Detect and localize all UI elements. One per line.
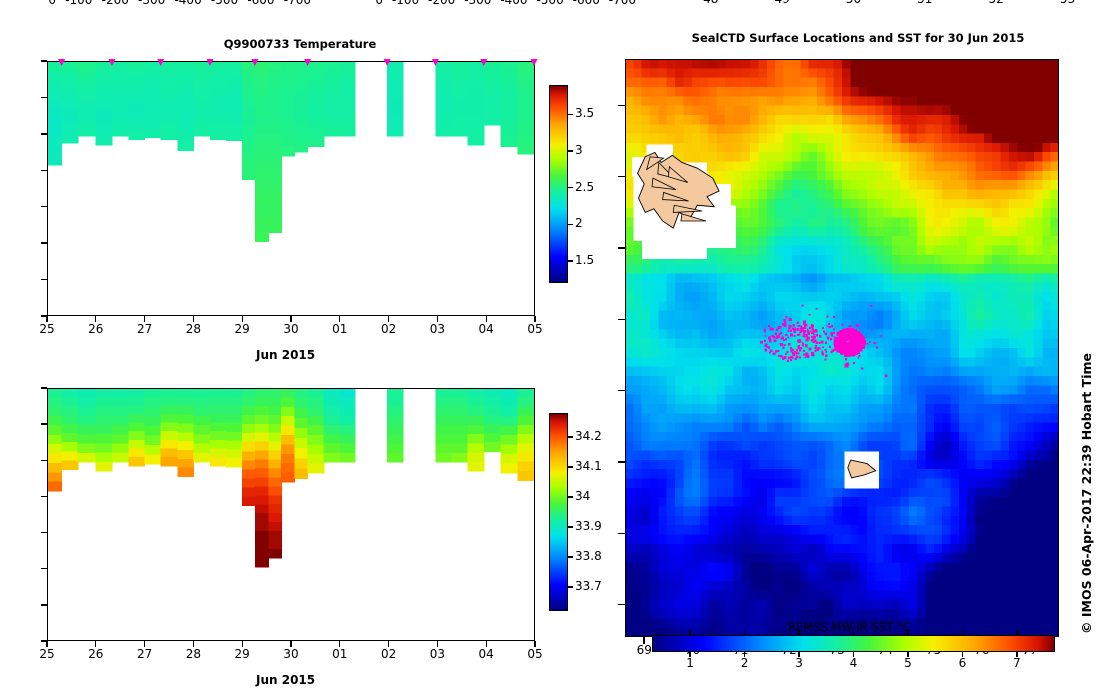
ytick bbox=[41, 242, 47, 243]
xtick-label: 03 bbox=[417, 647, 457, 661]
xtick-label: 29 bbox=[222, 322, 262, 336]
ytick-label: -200 bbox=[89, 0, 129, 7]
xtick-label: 05 bbox=[515, 647, 555, 661]
xtick-label: 02 bbox=[369, 322, 409, 336]
ytick-label: -200 bbox=[415, 0, 455, 7]
ytick bbox=[41, 640, 47, 641]
ytick-label: -700 bbox=[271, 0, 311, 7]
ytick-label: -600 bbox=[560, 0, 600, 7]
xtick-label: 03 bbox=[417, 322, 457, 336]
lat-tick-label: -51 bbox=[892, 0, 932, 6]
xtick-label: 05 bbox=[515, 322, 555, 336]
lat-tick-label: -50 bbox=[821, 0, 861, 6]
xtick-label: 27 bbox=[125, 647, 165, 661]
sal-colorbar-tick bbox=[568, 586, 573, 587]
sal-colorbar-label: 33.9 bbox=[575, 519, 602, 533]
xtick-label: 30 bbox=[271, 647, 311, 661]
sst-colorbar-tick bbox=[962, 630, 963, 635]
sst-colorbar-label: 2 bbox=[725, 656, 765, 670]
lat-tick bbox=[618, 461, 625, 462]
sst-colorbar-label: 1 bbox=[670, 656, 710, 670]
sal-colorbar-tick bbox=[568, 436, 573, 437]
xtick-label: 04 bbox=[466, 647, 506, 661]
xtick-label: 30 bbox=[271, 322, 311, 336]
lat-tick bbox=[618, 390, 625, 391]
ytick bbox=[41, 97, 47, 98]
xtick-label: 27 bbox=[125, 322, 165, 336]
sst-map-panel bbox=[625, 59, 1059, 637]
xtick-label: 02 bbox=[369, 647, 409, 661]
salinity-heatmap bbox=[47, 388, 535, 641]
ytick-label: -100 bbox=[379, 0, 419, 7]
xtick-label: 29 bbox=[222, 647, 262, 661]
sst-colorbar-tick bbox=[853, 630, 854, 635]
xtick-label: 01 bbox=[320, 322, 360, 336]
sal-colorbar-label: 34.1 bbox=[575, 459, 602, 473]
sal-colorbar-tick bbox=[568, 556, 573, 557]
sst-colorbar-tick bbox=[907, 630, 908, 635]
temperature-heatmap bbox=[47, 61, 535, 316]
xtick-label: 04 bbox=[466, 322, 506, 336]
temp-colorbar-tick bbox=[568, 114, 573, 115]
ytick-label: 0 bbox=[16, 0, 56, 7]
sal-colorbar-tick bbox=[568, 496, 573, 497]
sst-colorbar-label: 7 bbox=[997, 656, 1037, 670]
lat-tick bbox=[618, 319, 625, 320]
sst-colorbar-tick bbox=[798, 630, 799, 635]
ytick bbox=[41, 206, 47, 207]
temp-colorbar-tick bbox=[568, 187, 573, 188]
temp-colorbar-tick bbox=[568, 150, 573, 151]
sst-colorbar-tick bbox=[744, 630, 745, 635]
ytick-label: -100 bbox=[52, 0, 92, 7]
ytick bbox=[41, 387, 47, 388]
lat-tick bbox=[618, 604, 625, 605]
sst-colorbar-tick bbox=[689, 630, 690, 635]
lat-tick-label: -49 bbox=[750, 0, 790, 6]
xtick-label: 25 bbox=[27, 647, 67, 661]
sst-colorbar-tick bbox=[1016, 630, 1017, 635]
temp-colorbar-tick bbox=[568, 260, 573, 261]
temp-colorbar-label: 3 bbox=[575, 143, 583, 157]
ytick-label: -400 bbox=[488, 0, 528, 7]
sal-colorbar-label: 34.2 bbox=[575, 429, 602, 443]
xtick-label: 26 bbox=[76, 322, 116, 336]
ytick bbox=[41, 423, 47, 424]
salinity-xaxis-label: Jun 2015 bbox=[256, 673, 315, 687]
ytick-label: -600 bbox=[235, 0, 275, 7]
lat-tick bbox=[618, 176, 625, 177]
xtick-label: 01 bbox=[320, 647, 360, 661]
ytick bbox=[41, 170, 47, 171]
ytick-label: 0 bbox=[343, 0, 383, 7]
lat-tick-label: -53 bbox=[1035, 0, 1075, 6]
lat-tick bbox=[618, 247, 625, 248]
ytick-label: -700 bbox=[596, 0, 636, 7]
salinity-plot-panel bbox=[47, 388, 535, 641]
ytick bbox=[41, 496, 47, 497]
sst-colorbar-caption: REMSS MW-IR SST °C bbox=[788, 620, 911, 634]
sst-colorbar-label: 4 bbox=[834, 656, 874, 670]
ytick bbox=[41, 315, 47, 316]
xtick-label: 25 bbox=[27, 322, 67, 336]
sst-colorbar-label: 3 bbox=[779, 656, 819, 670]
ytick bbox=[41, 532, 47, 533]
temp-colorbar-tick bbox=[568, 224, 573, 225]
ytick-label: -300 bbox=[451, 0, 491, 7]
lat-tick-label: -52 bbox=[964, 0, 1004, 6]
imos-credit: © IMOS 06-Apr-2017 22:39 Hobart Time bbox=[1079, 353, 1094, 634]
map-panel-title: SealCTD Surface Locations and SST for 30… bbox=[643, 31, 1073, 45]
lat-tick bbox=[618, 105, 625, 106]
xtick-label: 28 bbox=[173, 647, 213, 661]
temp-colorbar-label: 2.5 bbox=[575, 180, 594, 194]
temperature-surface-markers bbox=[47, 53, 539, 69]
ytick-label: -500 bbox=[524, 0, 564, 7]
salinity-colorbar bbox=[549, 413, 568, 611]
ytick bbox=[41, 133, 47, 134]
ytick bbox=[41, 568, 47, 569]
temperature-colorbar bbox=[549, 85, 568, 283]
sal-colorbar-tick bbox=[568, 526, 573, 527]
temp-colorbar-label: 2 bbox=[575, 216, 583, 230]
sst-colorbar-label: 6 bbox=[942, 656, 982, 670]
ytick-label: -400 bbox=[162, 0, 202, 7]
ytick bbox=[41, 604, 47, 605]
sal-colorbar-label: 33.7 bbox=[575, 579, 602, 593]
lat-tick-label: -48 bbox=[678, 0, 718, 6]
ytick-label: -500 bbox=[198, 0, 238, 7]
sst-colorbar-label: 5 bbox=[888, 656, 928, 670]
ytick bbox=[41, 279, 47, 280]
xtick-label: 28 bbox=[173, 322, 213, 336]
temperature-xaxis-label: Jun 2015 bbox=[256, 348, 315, 362]
ytick-label: -300 bbox=[125, 0, 165, 7]
xtick-label: 26 bbox=[76, 647, 116, 661]
sal-colorbar-tick bbox=[568, 466, 573, 467]
sal-colorbar-label: 33.8 bbox=[575, 549, 602, 563]
temp-colorbar-label: 3.5 bbox=[575, 106, 594, 120]
ytick bbox=[41, 60, 47, 61]
temperature-panel-title: Q9900733 Temperature bbox=[150, 37, 450, 51]
lat-tick bbox=[618, 533, 625, 534]
temperature-plot-panel bbox=[47, 61, 535, 316]
sal-colorbar-label: 34 bbox=[575, 489, 590, 503]
temp-colorbar-label: 1.5 bbox=[575, 253, 594, 267]
sst-colorbar bbox=[652, 635, 1055, 652]
ytick bbox=[41, 460, 47, 461]
